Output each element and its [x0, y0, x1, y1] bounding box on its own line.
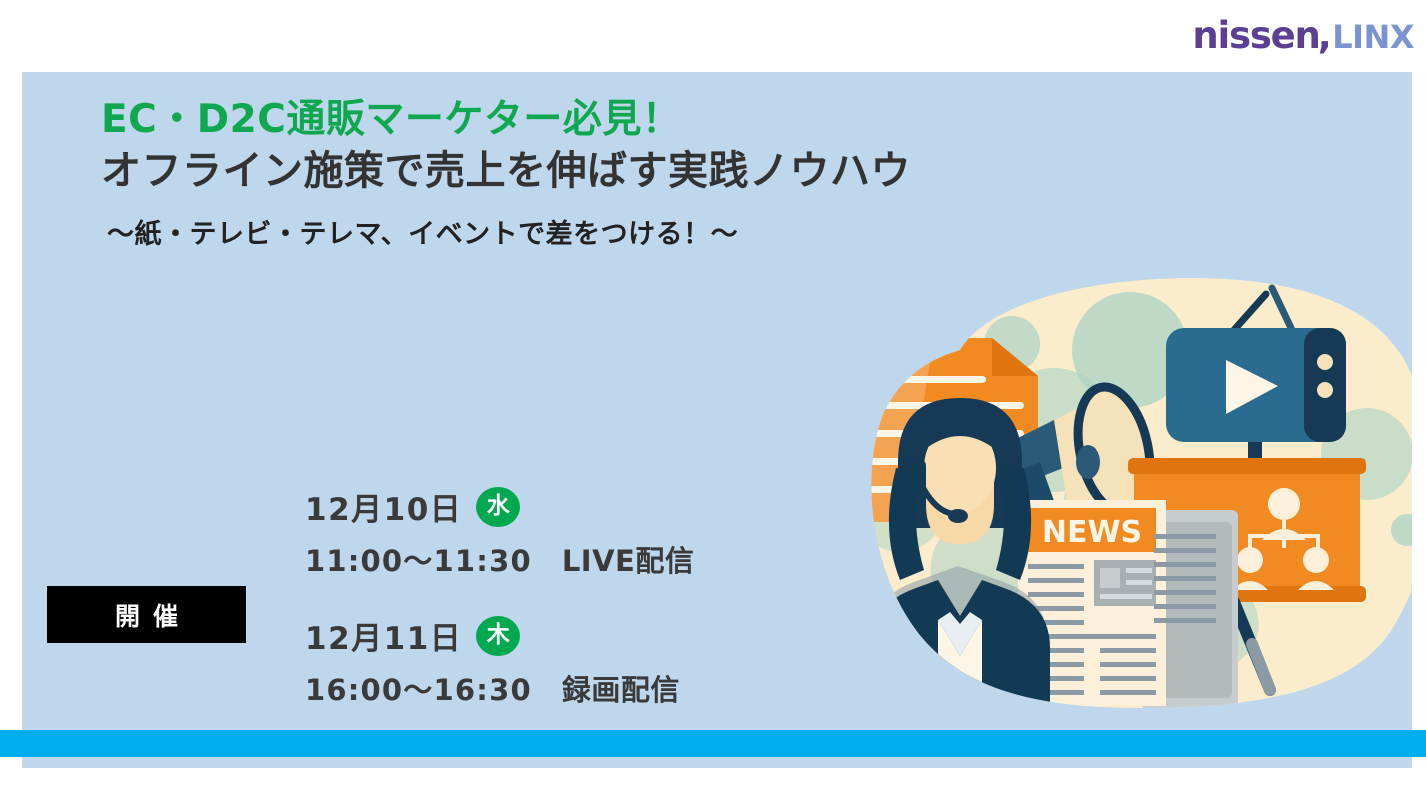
- schedule-block: 開催 12月10日 水 11:00〜11:30 LIVE配信 12月11日: [22, 392, 852, 722]
- accent-bar: [0, 730, 1426, 757]
- session-date: 12月11日: [305, 613, 462, 658]
- title-line-1: EC・D2C通販マーケター必見！: [101, 97, 921, 143]
- session-item: 12月10日 水 11:00〜11:30 LIVE配信: [305, 484, 694, 580]
- hero-illustration: NEWS: [842, 272, 1412, 712]
- logo-comma: ,: [1318, 14, 1332, 57]
- logo-nissen-text: nissen: [1192, 14, 1319, 57]
- session-date-row: 12月11日 木: [305, 613, 694, 658]
- subtitle: 〜紙・テレビ・テレマ、イベントで差をつける！〜: [107, 212, 921, 251]
- session-list: 12月10日 水 11:00〜11:30 LIVE配信 12月11日 木 16:…: [305, 484, 694, 709]
- status-badge: 開催: [47, 586, 246, 643]
- main-panel: EC・D2C通販マーケター必見！ オフライン施策で売上を伸ばす実践ノウハウ 〜紙…: [22, 72, 1412, 768]
- session-time-row: 16:00〜16:30 録画配信: [305, 667, 694, 709]
- session-time: 11:00〜11:30: [305, 538, 532, 580]
- weekday-badge: 木: [476, 616, 520, 656]
- session-time-row: 11:00〜11:30 LIVE配信: [305, 538, 694, 580]
- logo-linx-text: LINX: [1332, 18, 1414, 56]
- session-item: 12月11日 木 16:00〜16:30 録画配信: [305, 613, 694, 709]
- headline-block: EC・D2C通販マーケター必見！ オフライン施策で売上を伸ばす実践ノウハウ 〜紙…: [101, 97, 921, 251]
- weekday-badge: 水: [476, 487, 520, 527]
- newspaper-icon: NEWS: [1018, 500, 1238, 710]
- session-date-row: 12月10日 水: [305, 484, 694, 529]
- session-date: 12月10日: [305, 484, 462, 529]
- newspaper-masthead: NEWS: [1042, 515, 1142, 550]
- session-mode: 録画配信: [562, 667, 680, 709]
- title-line-2: オフライン施策で売上を伸ばす実践ノウハウ: [101, 147, 921, 196]
- session-mode: LIVE配信: [562, 538, 695, 580]
- banner-root: nissen , LINX EC・D2C通販マーケター必見！ オフライン施策で売…: [0, 0, 1426, 795]
- brand-logo: nissen , LINX: [1192, 14, 1414, 57]
- session-time: 16:00〜16:30: [305, 667, 532, 709]
- illustration-canvas: NEWS: [842, 272, 1412, 712]
